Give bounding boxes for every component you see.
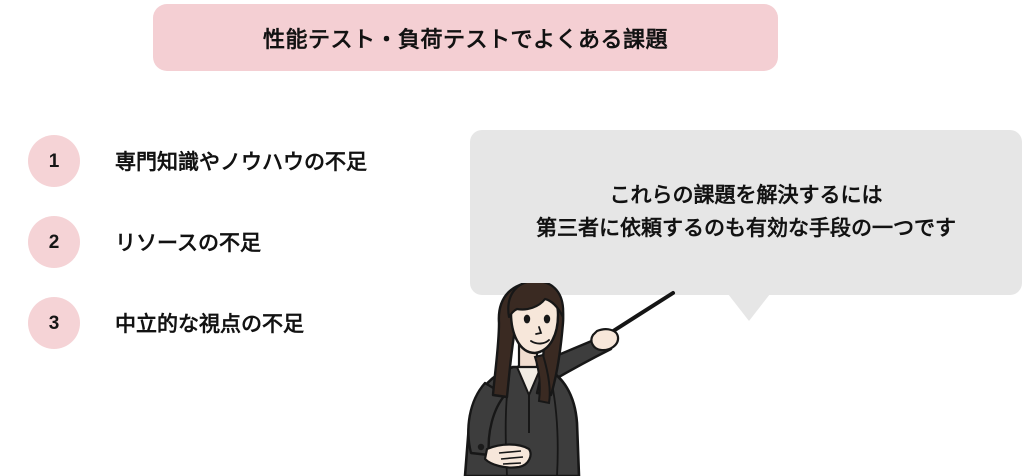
issue-text: 専門知識やノウハウの不足 [115,146,367,176]
right-eye [544,315,550,324]
pointer-stick [607,293,673,335]
issue-text: 中立的な視点の不足 [115,308,304,338]
sleeve-button [478,444,484,450]
issue-number-badge: 2 [28,216,80,268]
issue-text: リソースの不足 [115,227,261,257]
list-item: 2 リソースの不足 [28,216,448,268]
speech-bubble-text: これらの課題を解決するには 第三者に依頼するのも有効な手段の一つです [536,180,956,245]
list-item: 3 中立的な視点の不足 [28,297,448,349]
page-title: 性能テスト・負荷テストでよくある課題 [263,22,668,54]
right-hand [591,329,618,350]
issue-list: 1 専門知識やノウハウの不足 2 リソースの不足 3 中立的な視点の不足 [28,135,448,378]
left-eye [524,315,530,324]
presenter-illustration [455,283,755,476]
speech-bubble: これらの課題を解決するには 第三者に依頼するのも有効な手段の一つです [470,130,1022,295]
issue-number-label: 3 [49,314,60,333]
list-item: 1 専門知識やノウハウの不足 [28,135,448,187]
issue-number-badge: 3 [28,297,80,349]
issue-number-badge: 1 [28,135,80,187]
title-banner: 性能テスト・負荷テストでよくある課題 [153,4,778,71]
issue-number-label: 2 [49,233,60,252]
issue-number-label: 1 [49,152,60,171]
